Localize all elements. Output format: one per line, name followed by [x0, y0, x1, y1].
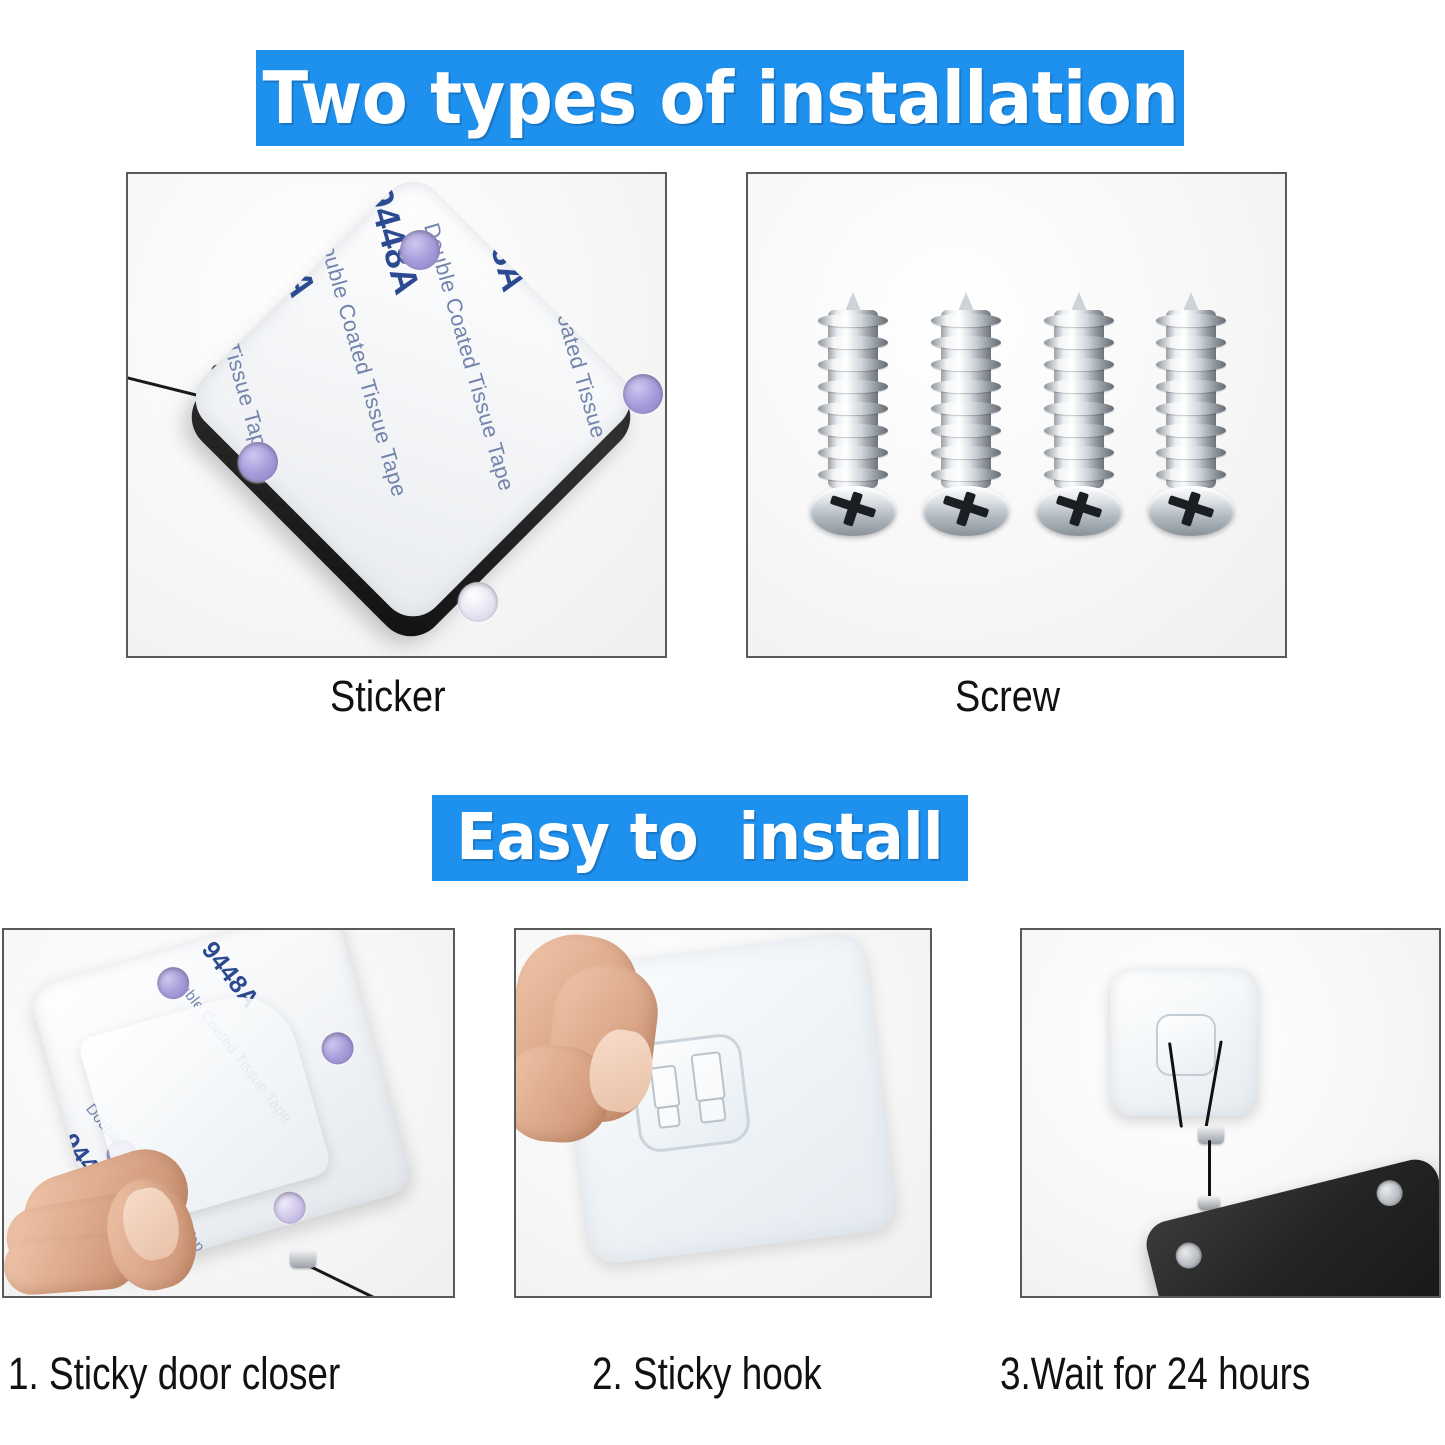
tape-description-text: Double Coated Tissue Tape [633, 223, 644, 497]
screw-item [923, 292, 1009, 542]
screw-thread [1156, 358, 1226, 371]
banner-one-title: Two types of installation [262, 56, 1178, 140]
screw-thread [1156, 380, 1226, 393]
screw-thread [818, 336, 888, 349]
screw-head [923, 486, 1009, 536]
tape-code-text: 9448A [254, 185, 323, 302]
tape-code-text: 9448A [465, 179, 534, 296]
screw-thread [818, 402, 888, 415]
screw-thread [1044, 358, 1114, 371]
screw-thread [818, 358, 888, 371]
caption-screw: Screw [955, 672, 1060, 722]
caption-step-3: 3.Wait for 24 hours [1000, 1348, 1310, 1400]
hook-embossed-shape [1156, 1014, 1216, 1076]
mounting-hole [623, 374, 663, 414]
caption-sticker: Sticker [330, 672, 446, 722]
screw-thread [818, 380, 888, 393]
screw-thread [931, 358, 1001, 371]
hook-slot [690, 1051, 726, 1102]
banner-easy-to-install: Easy to install [432, 795, 968, 881]
screw-thread [931, 402, 1001, 415]
screw-item [1036, 292, 1122, 542]
screw-thread [818, 314, 888, 327]
sticker-product-illustration: Double Coated Tissue Tape 9448A Double C… [128, 174, 665, 656]
screw-thread [931, 446, 1001, 459]
mounting-hole [400, 230, 440, 270]
screw-thread [931, 336, 1001, 349]
mounting-hole [238, 442, 278, 482]
screw-thread [931, 314, 1001, 327]
caption-step-1: 1. Sticky door closer [8, 1348, 340, 1400]
screw-thread [1044, 380, 1114, 393]
photo-panel-step-2 [514, 928, 932, 1298]
screw-thread [931, 468, 1001, 481]
mounting-hole [1374, 1177, 1406, 1209]
screw-thread [1044, 446, 1114, 459]
photo-panel-screw [746, 172, 1287, 658]
screw-thread [818, 446, 888, 459]
screw-thread [1156, 402, 1226, 415]
tape-code-text: 9448A [573, 176, 642, 293]
tape-description-text: Double Coated Tissue Tape [182, 438, 196, 630]
screw-thread [1044, 402, 1114, 415]
screw-thread [1156, 424, 1226, 437]
banner-two-title: Easy to install [457, 801, 944, 875]
screw-thread [931, 380, 1001, 393]
photo-panel-sticker: Double Coated Tissue Tape 9448A Double C… [126, 172, 667, 658]
hook-slot [656, 1105, 681, 1130]
photo-panel-step-3 [1020, 928, 1441, 1298]
screw-thread [1044, 336, 1114, 349]
caption-step-2: 2. Sticky hook [592, 1348, 822, 1400]
tape-description-text: Double Coated Tissue Tape [526, 220, 626, 494]
photo-panel-step-1: Double Coated Tissue Tape Double Coated … [2, 928, 455, 1298]
screw-thread [1044, 314, 1114, 327]
screw-thread [1156, 446, 1226, 459]
screw-thread [818, 468, 888, 481]
screw-thread [1156, 468, 1226, 481]
screw-thread [1156, 336, 1226, 349]
screw-thread [931, 424, 1001, 437]
hook-slot [650, 1065, 681, 1110]
screw-item [810, 292, 896, 542]
screw-thread [1044, 424, 1114, 437]
mounting-hole [458, 582, 498, 622]
wire-crimp-upper [1198, 1126, 1224, 1144]
screw-item [1148, 292, 1234, 542]
screw-thread [818, 424, 888, 437]
cable-crimp [290, 1250, 316, 1268]
hook-slot [698, 1097, 727, 1124]
screw-head [1036, 486, 1122, 536]
banner-two-types-of-installation: Two types of installation [256, 50, 1184, 146]
screw-thread [1044, 468, 1114, 481]
screw-head [1148, 486, 1234, 536]
screw-head [810, 486, 896, 536]
screw-thread [1156, 314, 1226, 327]
mounting-hole [1173, 1240, 1205, 1272]
